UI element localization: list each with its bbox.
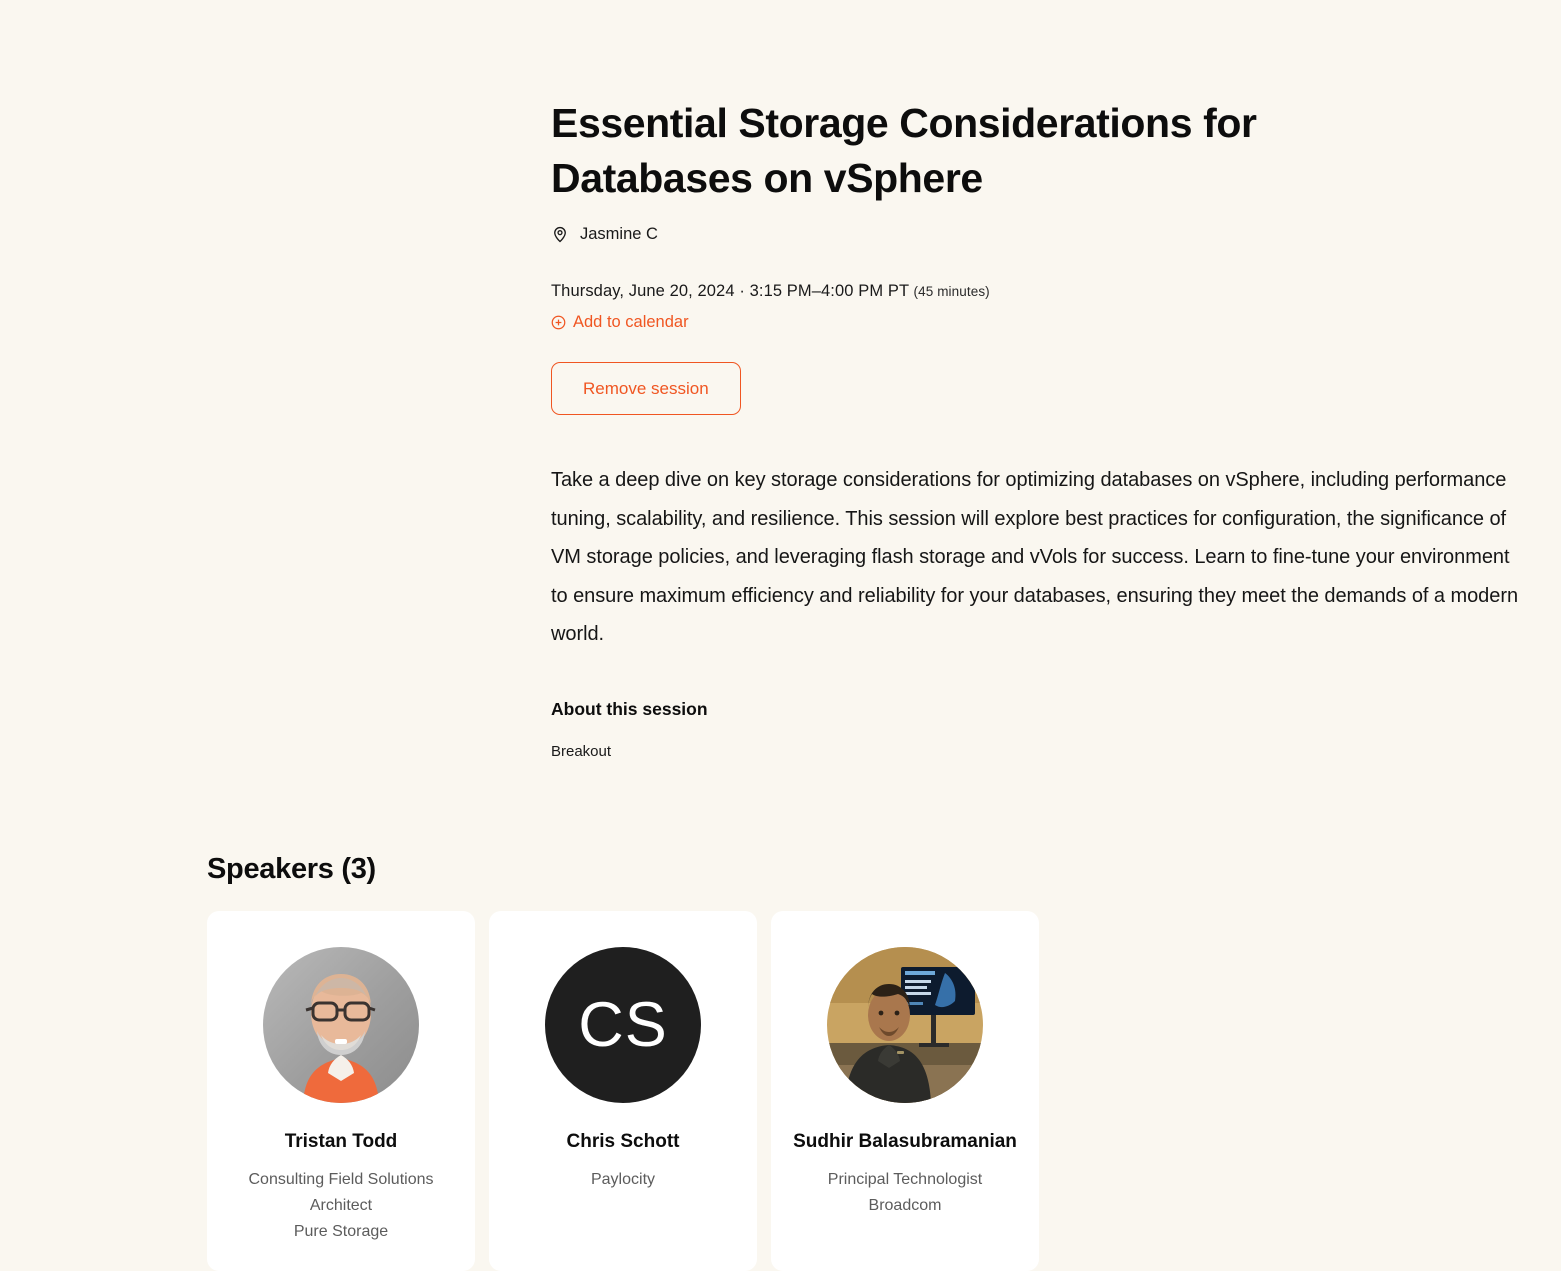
session-description: Take a deep dive on key storage consider… bbox=[551, 461, 1526, 654]
page-title: Essential Storage Considerations for Dat… bbox=[551, 96, 1351, 206]
session-type-value: Breakout bbox=[551, 742, 1531, 761]
conference-photo-icon bbox=[827, 947, 983, 1103]
speaker-org: Broadcom bbox=[869, 1193, 942, 1219]
speaker-name: Chris Schott bbox=[567, 1129, 680, 1155]
speakers-section: Speakers (3) bbox=[207, 851, 1547, 1271]
plus-circle-icon bbox=[551, 315, 566, 330]
session-time: 3:15 PM–4:00 PM PT bbox=[750, 282, 909, 300]
speaker-card-list: Tristan Todd Consulting Field Solutions … bbox=[207, 911, 1547, 1271]
speaker-name: Sudhir Balasubramanian bbox=[793, 1129, 1017, 1155]
venue-row: Jasmine C bbox=[551, 224, 1531, 244]
speaker-card[interactable]: Tristan Todd Consulting Field Solutions … bbox=[207, 911, 475, 1271]
speaker-card[interactable]: Sudhir Balasubramanian Principal Technol… bbox=[771, 911, 1039, 1271]
headshot-photo-icon bbox=[263, 947, 419, 1103]
speakers-heading: Speakers (3) bbox=[207, 851, 1547, 887]
avatar bbox=[263, 947, 419, 1103]
speaker-title: Principal Technologist bbox=[828, 1167, 982, 1193]
speaker-org: Pure Storage bbox=[294, 1219, 388, 1245]
add-to-calendar-link[interactable]: Add to calendar bbox=[551, 312, 689, 332]
speaker-title: Consulting Field Solutions Architect bbox=[225, 1167, 457, 1219]
session-datetime: Thursday, June 20, 2024 · 3:15 PM–4:00 P… bbox=[551, 281, 1531, 302]
avatar-initials: CS bbox=[545, 947, 701, 1103]
session-detail-panel: Essential Storage Considerations for Dat… bbox=[551, 96, 1531, 761]
venue-name: Jasmine C bbox=[580, 224, 658, 244]
speaker-card[interactable]: CS Chris Schott Paylocity bbox=[489, 911, 757, 1271]
location-pin-icon bbox=[551, 225, 569, 243]
add-to-calendar-label: Add to calendar bbox=[573, 312, 689, 332]
datetime-separator: · bbox=[739, 282, 745, 300]
avatar bbox=[827, 947, 983, 1103]
remove-session-button[interactable]: Remove session bbox=[551, 362, 741, 415]
session-duration: (45 minutes) bbox=[914, 284, 990, 299]
speaker-title: Paylocity bbox=[591, 1167, 655, 1193]
session-date: Thursday, June 20, 2024 bbox=[551, 282, 735, 300]
about-this-session-heading: About this session bbox=[551, 698, 1531, 720]
speaker-name: Tristan Todd bbox=[285, 1129, 398, 1155]
